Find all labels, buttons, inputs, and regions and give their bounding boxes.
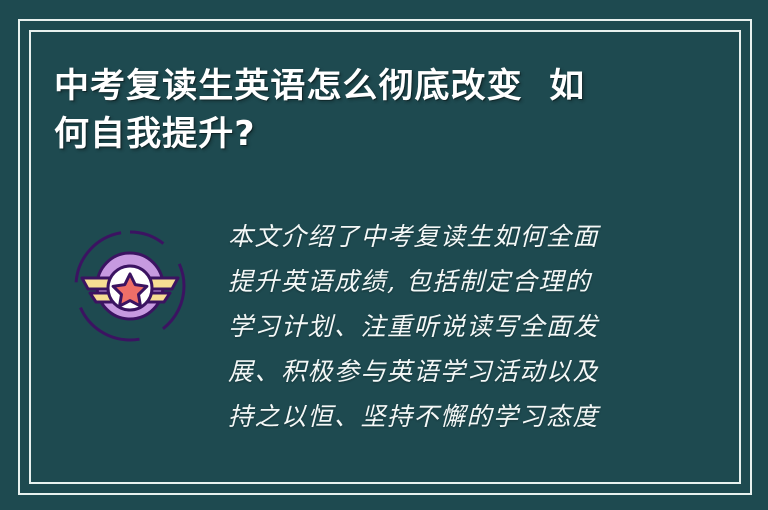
title-line-1: 中考复读生英语怎么彻底改变 如 <box>54 62 713 110</box>
poster-canvas: 中考复读生英语怎么彻底改变 如 何自我提升? 本文介绍了中考复读生如何全面 提升… <box>0 0 768 510</box>
title-line-2: 何自我提升? <box>54 110 713 158</box>
winged-star-badge-icon <box>68 224 192 348</box>
body-line: 学习计划、注重听说读写全面发 <box>228 304 658 349</box>
body-line: 本文介绍了中考复读生如何全面 <box>228 214 658 259</box>
body-line: 持之以恒、坚持不懈的学习态度 <box>228 394 658 439</box>
page-title: 中考复读生英语怎么彻底改变 如 何自我提升? <box>54 62 694 158</box>
body-text: 本文介绍了中考复读生如何全面 提升英语成绩, 包括制定合理的 学习计划、注重听说… <box>228 214 658 439</box>
body-line: 提升英语成绩, 包括制定合理的 <box>228 259 658 304</box>
body-line: 展、积极参与英语学习活动以及 <box>228 349 658 394</box>
